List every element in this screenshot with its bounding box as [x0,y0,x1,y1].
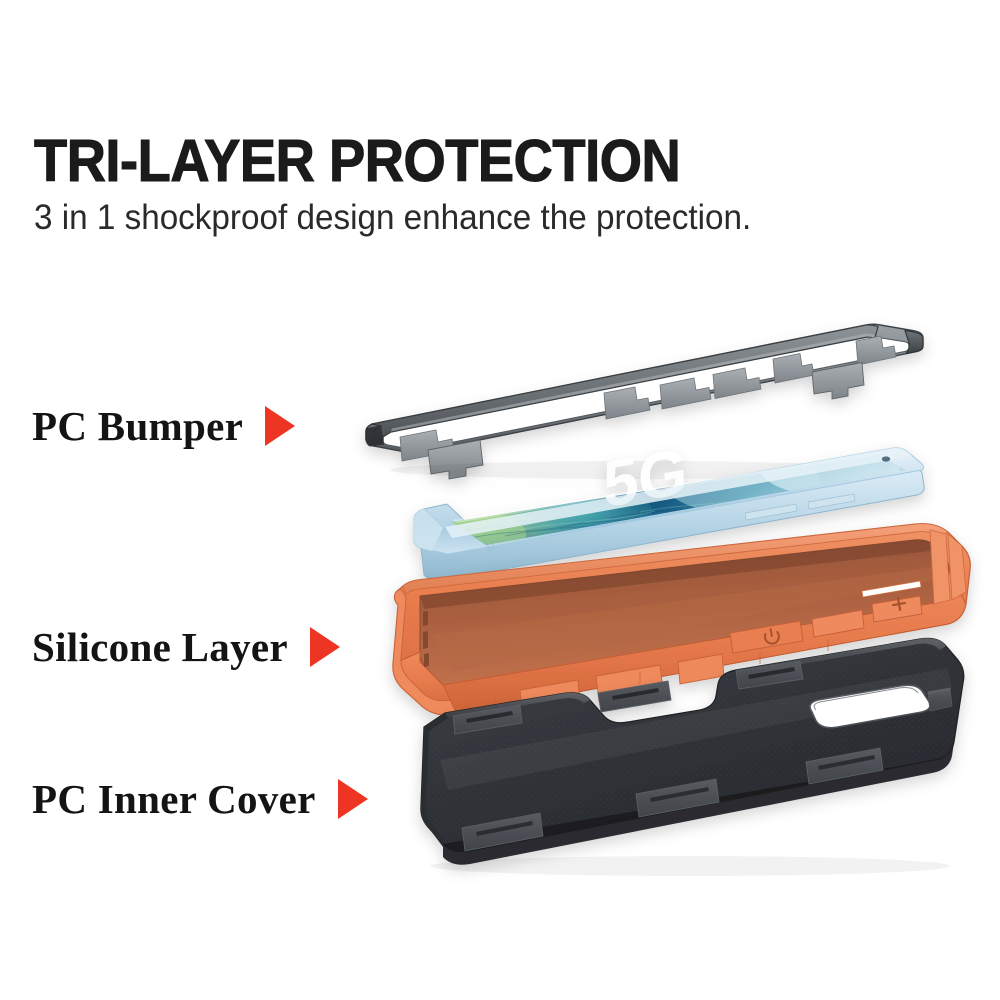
pc-inner-cover-layer [421,638,964,864]
bumper-front-rail [366,325,878,446]
silicone-cavity-floor [431,566,944,672]
inner-cover-left-edge [421,713,448,847]
callout-label: Silicone Layer [32,625,288,669]
inner-cover-scallops [596,684,718,723]
bumper-right-endcap [905,331,923,354]
power-icon [764,628,780,645]
volume-button-pad-lower[interactable] [812,610,864,637]
inner-cover-plate [421,638,964,851]
inner-cover-near-tabs [462,748,883,851]
bumper-left-endcap [366,424,383,446]
inner-cover-bottom-edge [443,742,954,865]
inner-cover-camera-cutout [810,685,930,728]
bumper-left-corner-shade [366,426,384,447]
bumper-near-tabs [400,368,761,461]
page-title: TRI-LAYER PROTECTION [34,130,680,192]
silicone-grip-lines [470,639,828,712]
phone-layer: 5G 51 [414,434,924,580]
inner-cover-tab-slots [466,667,795,723]
volume-up-icon [892,597,906,611]
callout-label: PC Inner Cover [32,777,316,821]
silicone-rim-far [403,524,948,594]
bumper-inner-opening [383,337,909,450]
bumper-far-tabs [604,336,896,419]
bumper-bottom-clips [428,363,864,480]
right-triangle-arrow-icon [310,627,340,667]
inner-cover-top-bevel-right [736,638,946,675]
phone-bottom-mark: 51 [486,541,497,552]
inner-cover-near-tab-slots [476,755,875,836]
svg-text:5G: 5G [602,434,689,521]
inner-cover-camera-cutout-inner-shadow [814,688,918,710]
bumper-top-highlight [391,334,874,432]
silicone-front-band [443,572,966,714]
phone-screen-glare [452,453,880,523]
phone-front-face [414,448,924,554]
inner-cover-camera-notch [928,688,952,711]
right-triangle-arrow-icon [338,779,368,819]
silicone-left-corner-pad [393,589,457,715]
silicone-cavity-shadow [420,540,936,609]
pc-bumper-layer [366,324,923,479]
silicone-side-buttons [730,596,922,653]
header: TRI-LAYER PROTECTION 3 in 1 shockproof d… [0,130,1000,240]
callout-silicone-layer: Silicone Layer [32,625,340,669]
inner-cover-top-bevel [445,693,590,718]
phone-left-corner [414,509,443,551]
bumper-outer-frame [366,324,923,453]
silicone-speaker-slot [862,581,921,597]
silicone-layer [393,524,970,715]
phone-side-buttons [745,494,855,520]
callout-pc-bumper: PC Bumper [32,404,295,448]
phone-screen [430,440,920,560]
silicone-inner-cavity [420,540,949,691]
silicone-left-vents [423,611,429,667]
phone-screen-5g-text: 5G [602,434,689,521]
callout-pc-inner-cover: PC Inner Cover [32,777,368,821]
callout-label: PC Bumper [32,404,243,448]
silicone-right-grip-ridges [930,530,966,604]
infographic-page: TRI-LAYER PROTECTION 3 in 1 shockproof d… [0,0,1000,1000]
right-triangle-arrow-icon [265,406,295,446]
volume-button-pad-upper[interactable] [872,596,922,622]
silicone-outer-shell [393,524,970,715]
assembly-ground-shadow [430,856,950,876]
inner-cover-texture [421,638,964,851]
power-button-pad[interactable] [730,621,803,653]
silicone-bottom-clips [520,654,724,712]
phone-side-edge [414,469,924,581]
page-subtitle: 3 in 1 shockproof design enhance the pro… [34,198,751,238]
silicone-rim-near [393,652,462,715]
bumper-contact-shadow [390,461,890,479]
phone-bezel-top [445,448,912,538]
inner-cover-sheen [440,668,952,790]
inner-cover-far-tabs [453,661,803,734]
phone-front-camera [882,456,890,461]
